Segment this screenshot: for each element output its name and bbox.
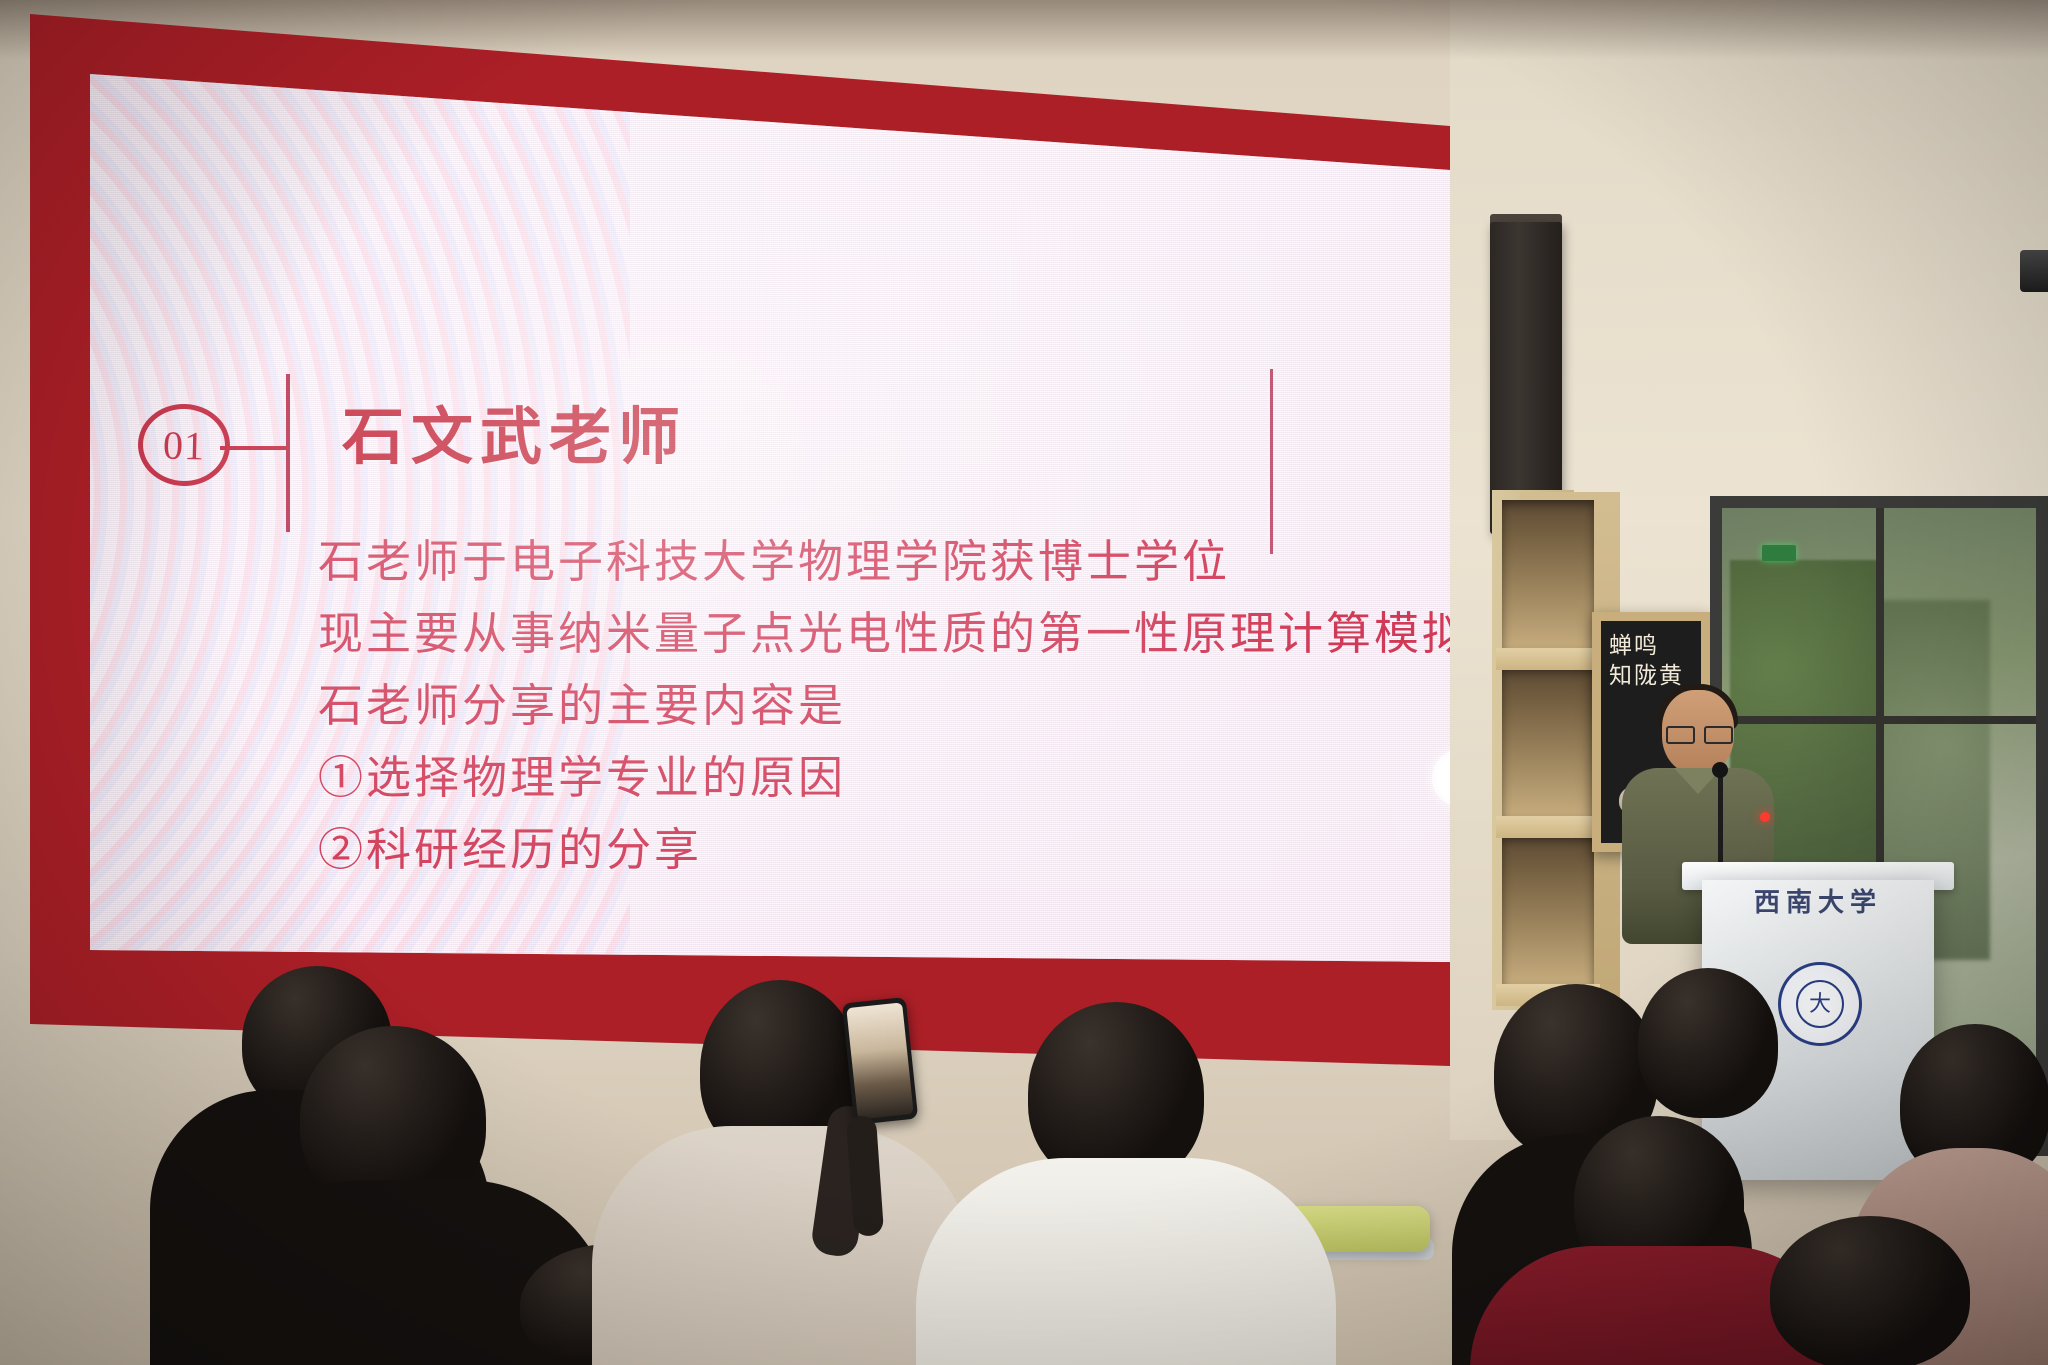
smartphone[interactable] [842, 997, 918, 1125]
microphone-icon [1712, 762, 1728, 778]
podium-label: 西南大学 [1702, 880, 1934, 920]
exit-sign-icon [1762, 545, 1796, 561]
ceiling-camera-icon [2020, 250, 2048, 292]
projection-screen[interactable]: 01 石文武老师 石老师于电子科技大学物理学院获博士学位 现主要从事纳米量子点光… [90, 74, 1450, 1014]
lecture-hall-photo: 蝉鸣 知陇黄 01 石文武老师 石老师于电子科技大学物理学院获博士学位 现主要从… [0, 0, 2048, 1365]
microphone-stand [1718, 770, 1723, 862]
audience-head [1770, 1216, 1970, 1365]
audience-shoulders [592, 1126, 972, 1365]
glasses-icon [1666, 726, 1730, 740]
bookshelf-cubby [1502, 668, 1594, 818]
smartphone-screen [846, 1002, 913, 1119]
bookshelf-cubby [1502, 500, 1594, 650]
wall-speaker-icon [1490, 222, 1562, 534]
audience-shoulders [916, 1158, 1336, 1365]
shelf-board [1496, 648, 1600, 670]
microphone-indicator-light [1760, 812, 1770, 822]
bookshelf-cubby [1502, 836, 1594, 986]
audience-head [1638, 968, 1778, 1118]
shelf-board [1496, 816, 1600, 838]
emblem-glyph: 大 [1796, 980, 1844, 1028]
projection-screen-frame: 01 石文武老师 石老师于电子科技大学物理学院获博士学位 现主要从事纳米量子点光… [30, 14, 1450, 1066]
screen-glow [90, 74, 1450, 1014]
university-emblem-icon: 大 [1778, 962, 1862, 1046]
